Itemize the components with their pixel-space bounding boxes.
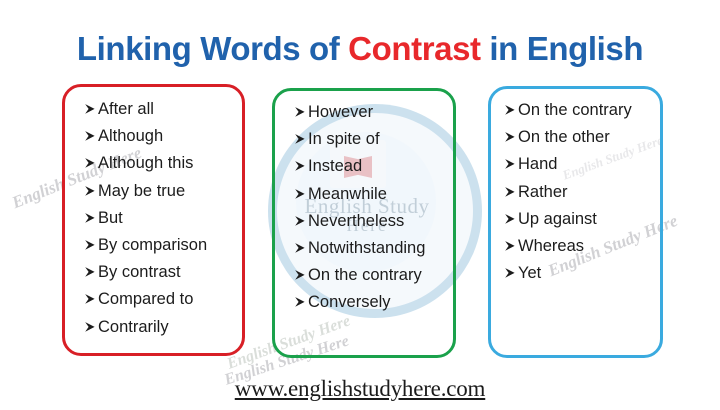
list-item-label: Although [98,127,163,145]
arrowhead-right-icon [504,233,517,260]
list-item: Instead [294,153,484,180]
list-item-label: However [308,103,373,121]
arrowhead-right-icon [294,126,307,153]
arrowhead-right-icon [294,289,307,316]
arrowhead-right-icon [504,179,517,206]
poster-canvas: English Study Here English Study Here En… [0,0,720,410]
arrowhead-right-icon [84,123,97,150]
list-item-label: Compared to [98,290,193,308]
list-item: Notwithstanding [294,235,484,262]
word-list-green: HoweverIn spite ofInsteadMeanwhileNevert… [294,99,484,317]
list-item-label: Contrarily [98,318,169,336]
list-item: However [294,99,484,126]
arrowhead-right-icon [84,286,97,313]
word-list-blue: On the contraryOn the otherHandRatherUp … [504,97,689,287]
list-item-label: But [98,209,123,227]
arrowhead-right-icon [84,314,97,341]
arrowhead-right-icon [294,208,307,235]
list-item: Contrarily [84,314,264,341]
list-item-label: By comparison [98,236,207,254]
arrowhead-right-icon [504,151,517,178]
arrowhead-right-icon [84,178,97,205]
list-item-label: In spite of [308,130,380,148]
list-item: On the contrary [504,97,689,124]
arrowhead-right-icon [294,153,307,180]
arrowhead-right-icon [504,206,517,233]
arrowhead-right-icon [294,235,307,262]
word-list-red: After allAlthoughAlthough thisMay be tru… [84,96,264,341]
list-item: After all [84,96,264,123]
page-title: Linking Words of Contrast in English [0,30,720,68]
title-part-1: Linking Words of [77,30,348,67]
website-url[interactable]: www.englishstudyhere.com [235,376,486,401]
list-item: May be true [84,178,264,205]
list-item: On the contrary [294,262,484,289]
list-item-label: Whereas [518,237,584,255]
list-item: Conversely [294,289,484,316]
title-part-2: in English [481,30,643,67]
list-item: Up against [504,206,689,233]
list-item-label: Hand [518,155,557,173]
list-item: By comparison [84,232,264,259]
list-item: In spite of [294,126,484,153]
footer: www.englishstudyhere.com [0,376,720,402]
arrowhead-right-icon [504,260,517,287]
list-item: Rather [504,179,689,206]
list-item: Although this [84,150,264,177]
list-item-label: On the contrary [308,266,422,284]
list-item-label: After all [98,100,154,118]
list-item: By contrast [84,259,264,286]
list-item: Meanwhile [294,181,484,208]
list-item-label: Although this [98,154,193,172]
list-item: Yet [504,260,689,287]
list-item-label: On the contrary [518,101,632,119]
list-item-label: On the other [518,128,610,146]
list-item-label: Nevertheless [308,212,404,230]
list-item-label: Rather [518,183,568,201]
list-item-label: By contrast [98,263,181,281]
arrowhead-right-icon [504,97,517,124]
list-item: Nevertheless [294,208,484,235]
list-item-label: Instead [308,157,362,175]
arrowhead-right-icon [294,99,307,126]
arrowhead-right-icon [84,150,97,177]
list-item: On the other [504,124,689,151]
list-item: Hand [504,151,689,178]
list-item: But [84,205,264,232]
arrowhead-right-icon [294,262,307,289]
list-item-label: May be true [98,182,185,200]
arrowhead-right-icon [294,181,307,208]
title-accent-word: Contrast [348,30,480,67]
arrowhead-right-icon [504,124,517,151]
arrowhead-right-icon [84,259,97,286]
list-item: Although [84,123,264,150]
list-item: Whereas [504,233,689,260]
list-item-label: Conversely [308,293,391,311]
list-item: Compared to [84,286,264,313]
arrowhead-right-icon [84,96,97,123]
arrowhead-right-icon [84,232,97,259]
list-item-label: Notwithstanding [308,239,425,257]
list-item-label: Up against [518,210,597,228]
arrowhead-right-icon [84,205,97,232]
list-item-label: Yet [518,264,541,282]
list-item-label: Meanwhile [308,185,387,203]
